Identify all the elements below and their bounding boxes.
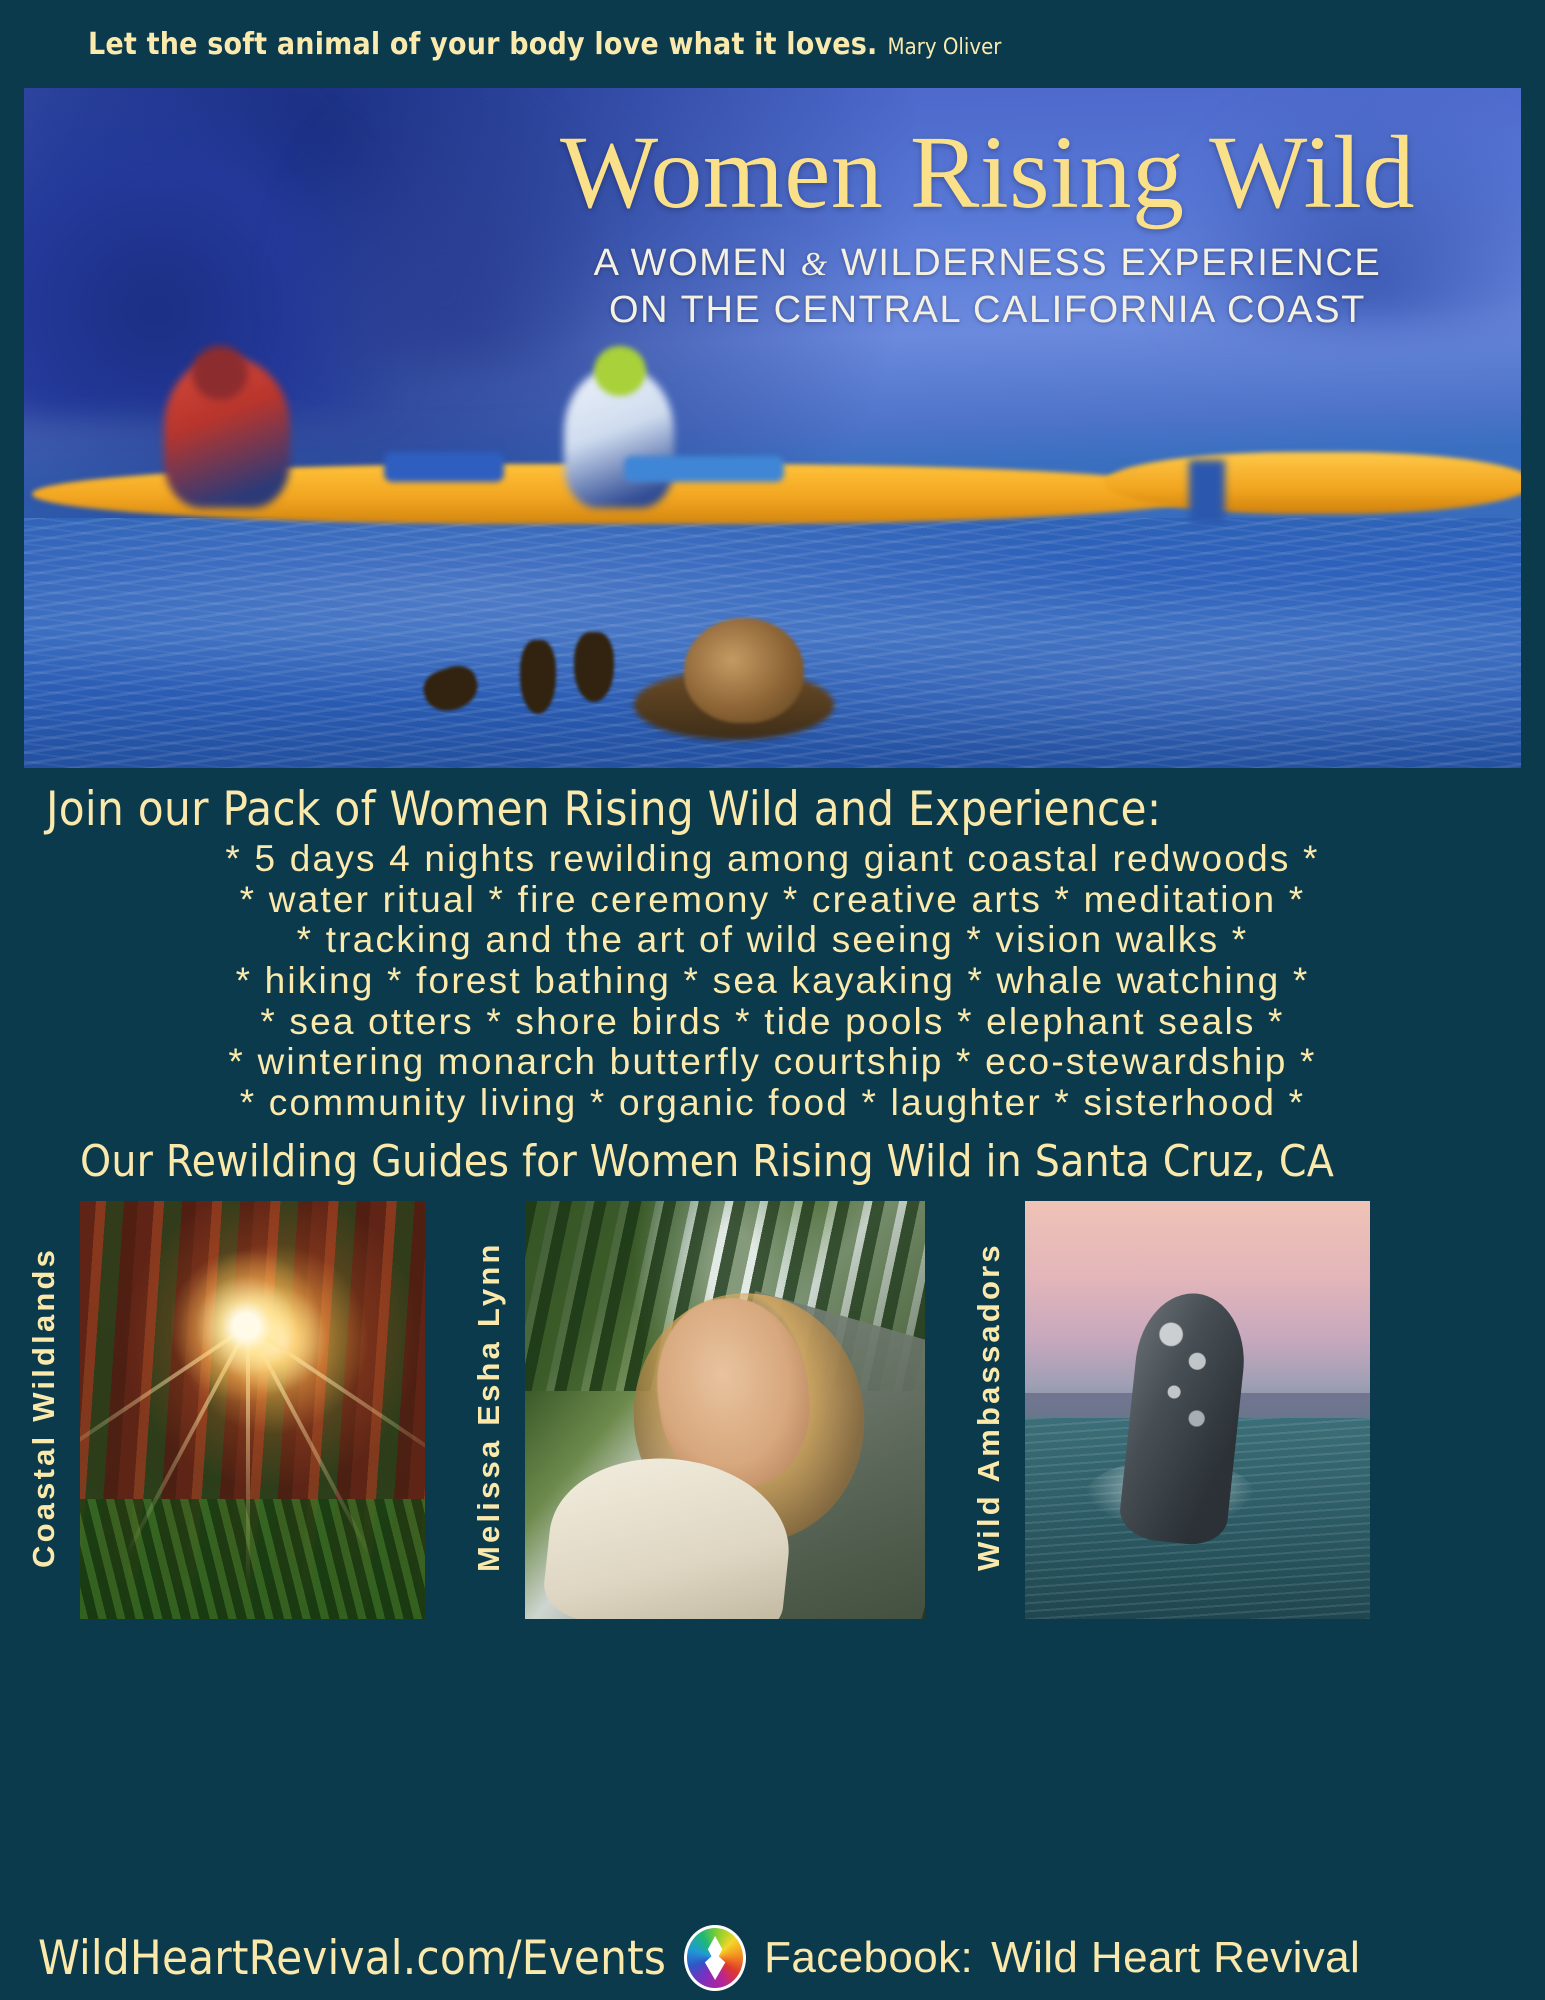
footer-bar: WildHeartRevival.com/Events Facebook: Wi… [0,1916,1545,2000]
wild-heart-revival-logo-icon [684,1925,746,1991]
list-item: * hiking * forest bathing * sea kayaking… [30,961,1515,1002]
guide-card-coastal-wildlands: Coastal Wildlands [26,1201,425,1619]
kayak-cargo-front [384,452,504,482]
guide-label-wild-ambassadors: Wild Ambassadors [971,1201,1025,1619]
quote-text: Let the soft animal of your body love wh… [88,27,878,62]
otter-paw-left [419,661,483,718]
whale-image [1025,1201,1370,1619]
kayak-group [24,438,1521,548]
otter-paw-right [574,632,614,702]
page-title: Women Rising Wild [494,120,1481,226]
guide-card-melissa-esha-lynn: Melissa Esha Lynn [471,1201,925,1619]
list-item: * sea otters * shore birds * tide pools … [30,1002,1515,1043]
hero-subtitle: A WOMEN & WILDERNESS EXPERIENCE ON THE C… [494,240,1481,334]
guide-label-coastal-wildlands: Coastal Wildlands [26,1201,80,1619]
guide-photo-melissa-esha-lynn [525,1201,925,1619]
otter-head [684,618,804,723]
list-item: * wintering monarch butterfly courtship … [30,1042,1515,1083]
guide-photo-coastal-wildlands [80,1201,425,1619]
guides-heading: Our Rewilding Guides for Women Rising Wi… [30,1136,1515,1187]
quote-bar: Let the soft animal of your body love wh… [0,0,1545,88]
body-copy: Join our Pack of Women Rising Wild and E… [0,768,1545,1187]
sea-otter [424,618,844,748]
experience-list: * 5 days 4 nights rewilding among giant … [30,839,1515,1124]
hero-subtitle-line-1: A WOMEN & WILDERNESS EXPERIENCE [494,240,1481,287]
ampersand-glyph: & [801,246,829,283]
guide-label-melissa-esha-lynn: Melissa Esha Lynn [471,1201,525,1619]
list-item: * 5 days 4 nights rewilding among giant … [30,839,1515,880]
guides-photo-row: Coastal Wildlands Melissa Esha Lynn Wild… [0,1201,1545,1626]
portrait-image [525,1201,925,1619]
sunburst-glow [171,1251,321,1401]
guide-card-wild-ambassadors: Wild Ambassadors [971,1201,1370,1619]
facebook-label: Facebook: [764,1933,973,1983]
list-item: * community living * organic food * laug… [30,1083,1515,1124]
otter-paw-middle [520,640,556,714]
list-item: * water ritual * fire ceremony * creativ… [30,880,1515,921]
hero-copy: Women Rising Wild A WOMEN & WILDERNESS E… [494,120,1481,334]
quote-author: Mary Oliver [888,35,1002,60]
hero-image: Women Rising Wild A WOMEN & WILDERNESS E… [24,88,1521,768]
hero-subtitle-line-2: ON THE CENTRAL CALIFORNIA COAST [494,287,1481,334]
subtitle-part-b: WILDERNESS EXPERIENCE [841,242,1381,284]
join-heading: Join our Pack of Women Rising Wild and E… [30,782,1515,837]
subtitle-part-a: A WOMEN [594,242,789,284]
guide-photo-wild-ambassadors [1025,1201,1370,1619]
paddler-front-head [192,346,248,400]
kayak-hull-second [1104,452,1521,514]
website-link[interactable]: WildHeartRevival.com/Events [38,1931,666,1986]
facebook-page-link[interactable]: Wild Heart Revival [991,1933,1360,1983]
kayak-cargo-back [624,456,784,482]
list-item: * tracking and the art of wild seeing * … [30,920,1515,961]
paddler-back-helmet [594,346,646,396]
kayak-gap [1189,460,1225,524]
